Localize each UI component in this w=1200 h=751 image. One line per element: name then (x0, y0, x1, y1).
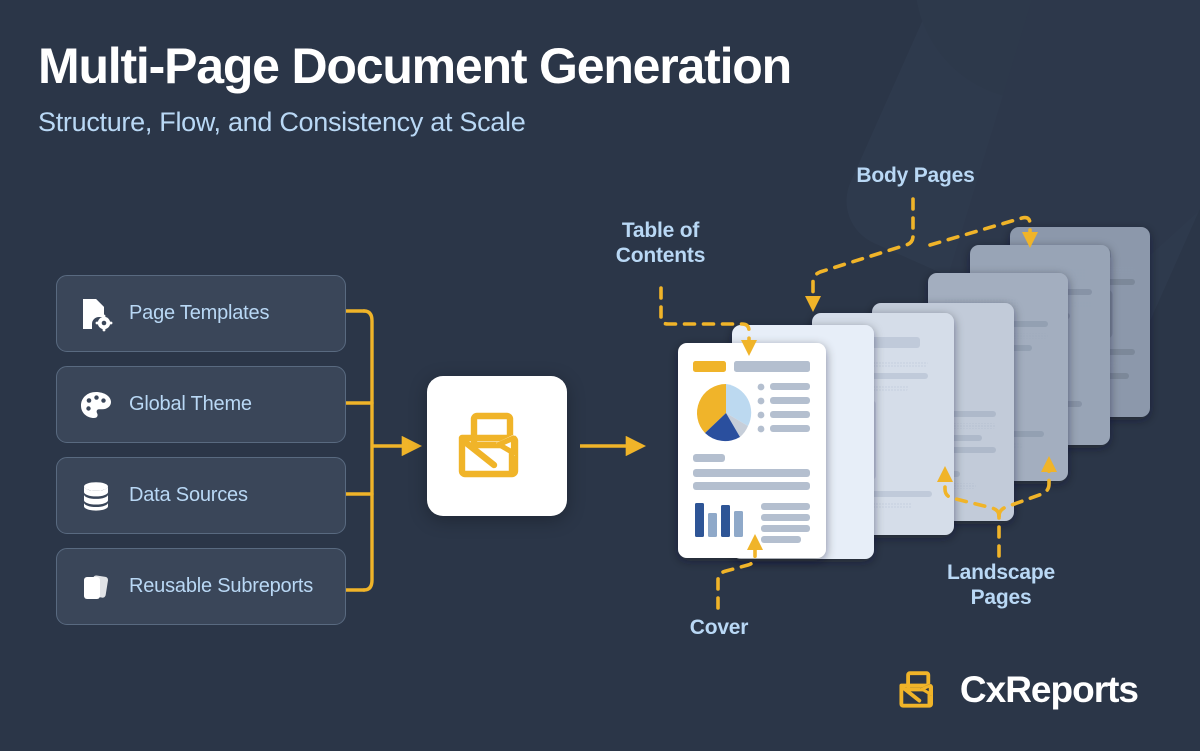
input-bracket (346, 311, 372, 590)
input-card-label: Global Theme (129, 393, 252, 417)
landscape-connector-right (999, 468, 1049, 516)
header: Multi-Page Document Generation Structure… (38, 40, 791, 138)
brand-name: CxReports (960, 669, 1138, 711)
palette-icon (77, 386, 115, 424)
input-card-reusable-subreports[interactable]: Reusable Subreports (56, 548, 346, 625)
cover-connector (718, 546, 755, 608)
cxreports-logo-icon (898, 669, 944, 711)
cxreports-logo-icon (456, 409, 538, 483)
document-gear-icon (77, 295, 115, 333)
input-card-list: Page Templates Global Theme Data Sources (56, 275, 346, 639)
stacked-cards-icon (77, 568, 115, 606)
input-card-global-theme[interactable]: Global Theme (56, 366, 346, 443)
brand-footer: CxReports (898, 669, 1138, 711)
page-subtitle: Structure, Flow, and Consistency at Scal… (38, 107, 791, 138)
body-connector-right (930, 218, 1030, 245)
body-connector-left (813, 199, 913, 300)
database-icon (77, 477, 115, 515)
callout-landscape-pages: Landscape Pages (910, 560, 1092, 610)
landscape-connector-left (945, 478, 999, 516)
callout-arrowheads (741, 232, 1057, 550)
callout-cover: Cover (660, 615, 778, 640)
input-card-label: Reusable Subreports (129, 575, 313, 599)
input-card-label: Page Templates (129, 302, 269, 326)
page-title: Multi-Page Document Generation (38, 40, 791, 93)
callout-body-pages: Body Pages (828, 163, 1003, 188)
input-card-page-templates[interactable]: Page Templates (56, 275, 346, 352)
input-card-label: Data Sources (129, 484, 248, 508)
input-card-data-sources[interactable]: Data Sources (56, 457, 346, 534)
callout-table-of-contents: Table of Contents (588, 218, 733, 268)
toc-connector (661, 288, 749, 344)
engine-logo-tile (427, 376, 567, 516)
